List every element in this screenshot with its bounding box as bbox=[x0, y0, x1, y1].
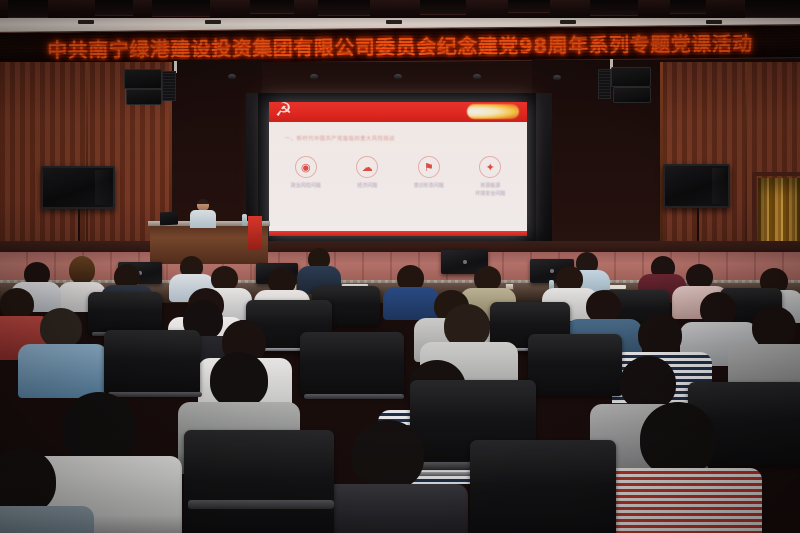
ceiling-spotlight bbox=[706, 20, 722, 24]
attendee-torso-striped-red bbox=[600, 468, 762, 533]
chair-armrest bbox=[188, 500, 334, 509]
slide-footer-bar bbox=[269, 231, 527, 236]
screen-bezel-right bbox=[536, 93, 552, 241]
ceiling-beam bbox=[152, 0, 210, 17]
line-array-speaker-left bbox=[124, 65, 184, 111]
presenter bbox=[190, 199, 216, 227]
stage-spotlight bbox=[553, 75, 561, 80]
stage-spotlight bbox=[228, 74, 236, 79]
ceiling-beam bbox=[318, 0, 370, 16]
slide-item-label: 政治风险问题 bbox=[279, 183, 333, 191]
wall-monitor-left bbox=[41, 166, 115, 209]
presenter-laptop bbox=[160, 212, 178, 226]
slide-header: ☭ bbox=[269, 102, 527, 122]
red-table-cloth bbox=[248, 216, 262, 250]
attendee-torso bbox=[18, 344, 108, 398]
chair bbox=[104, 330, 200, 394]
slide-item-label: 意识形态问题 bbox=[402, 183, 456, 191]
ceiling-spotlight bbox=[386, 20, 402, 24]
laptop-logo bbox=[463, 260, 467, 264]
chair-armrest bbox=[304, 394, 404, 399]
panel-seam-left-inner bbox=[86, 62, 88, 262]
attendee-head bbox=[62, 392, 136, 464]
stage-spotlight bbox=[310, 74, 318, 79]
ceiling-spotlight bbox=[205, 20, 221, 24]
slide-header-glare bbox=[467, 104, 519, 119]
ceiling-beam bbox=[420, 0, 466, 15]
ceiling-spotlight bbox=[78, 20, 94, 24]
attendee-head-bun bbox=[640, 402, 716, 476]
chair-armrest bbox=[108, 392, 202, 397]
attendee-torso bbox=[312, 484, 468, 533]
chair bbox=[470, 440, 616, 533]
attendee-torso bbox=[383, 287, 439, 320]
slide-icon-row: ◉ 政治风险问题 ☁ 经济问题 ⚑ 意识形态问题 ✦ 资源能源 环境安全问题 bbox=[269, 142, 527, 231]
slide-item-label: 资源能源 环境安全问题 bbox=[463, 183, 517, 198]
led-banner-text: 中共南宁绿港建设投资集团有限公司委员会纪念建党98周年系列专题党课活动 bbox=[47, 27, 753, 63]
speaker-cabinet bbox=[613, 87, 651, 103]
chair bbox=[184, 430, 334, 533]
slide-title: 一、新时代中国共产党面临的重大风险挑战 bbox=[285, 135, 527, 142]
presenter-body bbox=[190, 210, 216, 228]
led-banner: 中共南宁绿港建设投资集团有限公司委员会纪念建党98周年系列专题党课活动 bbox=[0, 24, 800, 66]
ceiling-beam bbox=[745, 0, 800, 18]
ideology-risk-icon: ⚑ bbox=[418, 156, 440, 178]
monitor-glare bbox=[95, 170, 110, 204]
ceiling-beam bbox=[95, 0, 133, 16]
speaker-grill bbox=[598, 69, 611, 99]
speaker-grill bbox=[162, 71, 176, 101]
chair bbox=[300, 332, 404, 396]
slide-item: ◉ 政治风险问题 bbox=[279, 156, 333, 191]
ceiling-beam bbox=[670, 0, 706, 14]
speaker-cabinet bbox=[126, 89, 162, 105]
conference-hall-photo: 中共南宁绿港建设投资集团有限公司委员会纪念建党98周年系列专题党课活动 bbox=[0, 0, 800, 533]
attendee-head bbox=[620, 356, 676, 410]
water-bottle bbox=[242, 214, 247, 226]
attendee-head bbox=[210, 352, 268, 408]
ceiling-beam bbox=[590, 0, 638, 16]
laptop-logo bbox=[550, 269, 554, 273]
panel-seam-right-inner bbox=[745, 62, 747, 262]
projection-screen: ☭ 一、新时代中国共产党面临的重大风险挑战 ◉ 政治风险问题 ☁ 经济问题 ⚑ … bbox=[258, 93, 536, 241]
attendee-torso bbox=[0, 506, 94, 533]
stage-spotlight bbox=[473, 74, 481, 79]
attendee-head bbox=[69, 256, 95, 284]
economy-risk-icon: ☁ bbox=[356, 156, 378, 178]
slide-item: ✦ 资源能源 环境安全问题 bbox=[463, 156, 517, 198]
ceiling-spotlight bbox=[560, 20, 576, 24]
ceiling-beam bbox=[508, 0, 550, 13]
slide-item: ☁ 经济问题 bbox=[340, 156, 394, 191]
slide-item-label: 经济问题 bbox=[340, 183, 394, 191]
monitor-glare bbox=[712, 168, 726, 203]
slide-item: ⚑ 意识形态问题 bbox=[402, 156, 456, 191]
resource-risk-icon: ✦ bbox=[479, 156, 501, 178]
stage-spotlight bbox=[394, 74, 402, 79]
politics-risk-icon: ◉ bbox=[295, 156, 317, 178]
chair bbox=[528, 334, 622, 396]
speaker-cabinet bbox=[124, 69, 162, 89]
ceiling-beam bbox=[8, 0, 48, 18]
speaker-cabinet bbox=[611, 67, 651, 87]
attendee-head bbox=[40, 308, 82, 348]
attendee-head bbox=[352, 420, 424, 490]
ceiling-beam bbox=[250, 0, 294, 14]
attendee-head bbox=[752, 306, 796, 348]
line-array-speaker-right bbox=[598, 62, 662, 110]
attendee-head bbox=[638, 314, 682, 356]
chair bbox=[88, 292, 162, 334]
presentation-slide: ☭ 一、新时代中国共产党面临的重大风险挑战 ◉ 政治风险问题 ☁ 经济问题 ⚑ … bbox=[269, 102, 527, 236]
attendee-head bbox=[700, 292, 736, 326]
wall-monitor-right bbox=[663, 164, 730, 208]
hammer-and-sickle-emblem: ☭ bbox=[275, 101, 297, 123]
